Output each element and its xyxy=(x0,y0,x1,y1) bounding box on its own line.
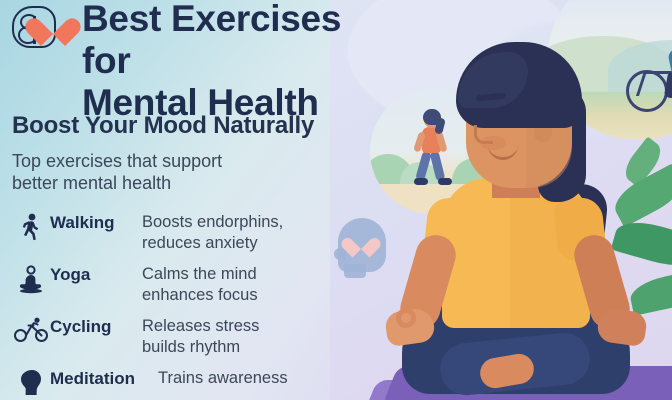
bicycle-illustration xyxy=(626,32,672,112)
walking-woman-illustration xyxy=(414,112,456,198)
description-line-2: better mental health xyxy=(12,173,171,193)
page-title: Best Exercises forMental Health xyxy=(82,0,382,124)
bicycle-icon xyxy=(12,316,50,343)
desc-line-1: Boosts endorphins, xyxy=(142,213,283,231)
exercise-list: Walking Boosts endorphins,reduces anxiet… xyxy=(12,212,342,400)
lotus-meditation-icon xyxy=(12,264,50,295)
title-line-1: Best Exercises for xyxy=(82,0,341,81)
description-line-1: Top exercises that support xyxy=(12,151,222,171)
walking-person-icon xyxy=(12,212,50,243)
heart-icon xyxy=(36,7,70,38)
description-text: Top exercises that supportbetter mental … xyxy=(12,150,282,194)
subtitle: Boost Your Mood Naturally xyxy=(12,112,314,140)
list-item-meditation: Meditation Trains awareness xyxy=(12,368,342,400)
exercise-description: Boosts endorphins,reduces anxiety xyxy=(142,212,283,254)
exercise-description: Trains awareness xyxy=(158,368,288,389)
desc-line-1: Calms the mind xyxy=(142,265,257,283)
text-content-panel: Best Exercises forMental Health Boost Yo… xyxy=(0,0,352,400)
desc-line-2: enhances focus xyxy=(142,286,258,304)
desc-line-2: builds rhythm xyxy=(142,338,240,356)
walker-shoe xyxy=(438,178,452,185)
walker-leg xyxy=(430,150,446,181)
exercise-name: Cycling xyxy=(50,316,142,337)
list-item-cycling: Cycling Releases stressbuilds rhythm xyxy=(12,316,342,368)
list-item-walking: Walking Boosts endorphins,reduces anxiet… xyxy=(12,212,342,264)
infographic-poster: Best Exercises forMental Health Boost Yo… xyxy=(0,0,672,400)
desc-line-1: Releases stress xyxy=(142,317,259,335)
heart-shape xyxy=(349,230,373,252)
desc-line-1: Trains awareness xyxy=(158,369,288,387)
brain-heart-icon xyxy=(12,4,74,46)
desc-line-2: reduces anxiety xyxy=(142,234,258,252)
exercise-description: Calms the mindenhances focus xyxy=(142,264,258,306)
exercise-description: Releases stressbuilds rhythm xyxy=(142,316,259,358)
exercise-name: Walking xyxy=(50,212,142,233)
walker-shoe xyxy=(414,178,428,185)
woman-hand-mudra-ring xyxy=(396,308,416,328)
exercise-name: Yoga xyxy=(50,264,142,285)
list-item-yoga: Yoga Calms the mindenhances focus xyxy=(12,264,342,316)
head-silhouette-icon xyxy=(12,368,50,395)
exercise-name: Meditation xyxy=(50,368,158,389)
